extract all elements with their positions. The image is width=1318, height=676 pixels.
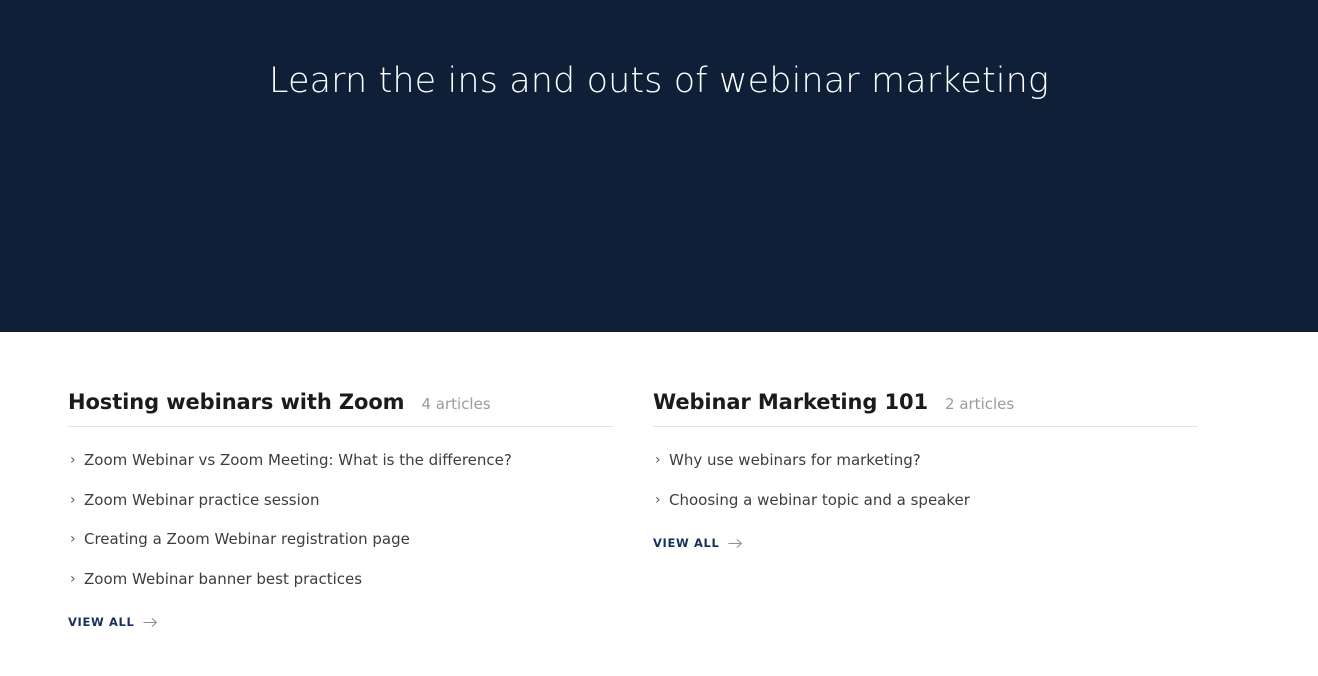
article-link[interactable]: Why use webinars for marketing?: [669, 451, 921, 470]
list-item[interactable]: › Zoom Webinar practice session: [68, 491, 613, 510]
article-link[interactable]: Zoom Webinar banner best practices: [84, 570, 362, 589]
article-link[interactable]: Zoom Webinar vs Zoom Meeting: What is th…: [84, 451, 512, 470]
list-item[interactable]: › Creating a Zoom Webinar registration p…: [68, 530, 613, 549]
list-item[interactable]: › Choosing a webinar topic and a speaker: [653, 491, 1198, 510]
category-title[interactable]: Hosting webinars with Zoom: [68, 390, 404, 414]
view-all-label: VIEW ALL: [68, 615, 134, 629]
chevron-right-icon: ›: [68, 451, 84, 470]
chevron-right-icon: ›: [68, 530, 84, 549]
article-link[interactable]: Creating a Zoom Webinar registration pag…: [84, 530, 410, 549]
list-item[interactable]: › Why use webinars for marketing?: [653, 451, 1198, 470]
category-title[interactable]: Webinar Marketing 101: [653, 390, 928, 414]
arrow-right-icon: [728, 538, 743, 549]
view-all-link[interactable]: VIEW ALL: [68, 615, 158, 629]
category-header: Hosting webinars with Zoom 4 articles: [68, 332, 613, 427]
article-link[interactable]: Choosing a webinar topic and a speaker: [669, 491, 970, 510]
article-link[interactable]: Zoom Webinar practice session: [84, 491, 319, 510]
chevron-right-icon: ›: [653, 451, 669, 470]
page-root: Learn the ins and outs of webinar market…: [0, 0, 1318, 676]
article-list: › Why use webinars for marketing? › Choo…: [653, 427, 1198, 510]
category-hosting-webinars-with-zoom: Hosting webinars with Zoom 4 articles › …: [68, 332, 613, 630]
chevron-right-icon: ›: [653, 491, 669, 510]
view-all-label: VIEW ALL: [653, 536, 719, 550]
article-list: › Zoom Webinar vs Zoom Meeting: What is …: [68, 427, 613, 589]
arrow-right-icon: [143, 617, 158, 628]
category-article-count: 4 articles: [421, 395, 490, 413]
category-webinar-marketing-101: Webinar Marketing 101 2 articles › Why u…: [653, 332, 1198, 551]
view-all-link[interactable]: VIEW ALL: [653, 536, 743, 550]
hero-banner: Learn the ins and outs of webinar market…: [0, 0, 1318, 332]
chevron-right-icon: ›: [68, 570, 84, 589]
chevron-right-icon: ›: [68, 491, 84, 510]
category-article-count: 2 articles: [945, 395, 1014, 413]
list-item[interactable]: › Zoom Webinar vs Zoom Meeting: What is …: [68, 451, 613, 470]
category-header: Webinar Marketing 101 2 articles: [653, 332, 1198, 427]
list-item[interactable]: › Zoom Webinar banner best practices: [68, 570, 613, 589]
category-section: Hosting webinars with Zoom 4 articles › …: [0, 332, 1318, 676]
page-title: Learn the ins and outs of webinar market…: [0, 58, 1318, 104]
